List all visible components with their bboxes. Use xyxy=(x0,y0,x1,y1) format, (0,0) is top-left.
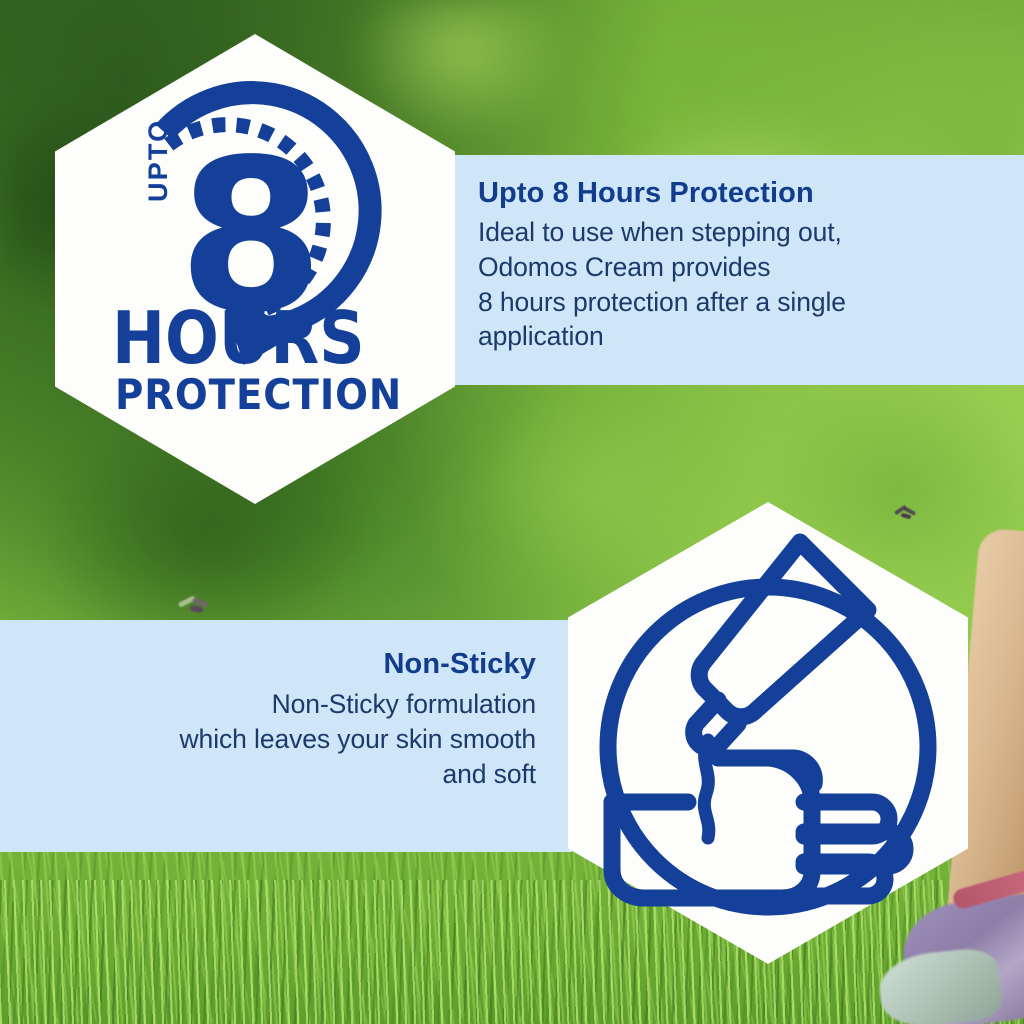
insect-icon xyxy=(178,598,212,620)
infographic-canvas: Upto 8 Hours Protection Ideal to use whe… xyxy=(0,0,1024,1024)
feature-body-line: 8 hours protection after a single xyxy=(478,285,998,320)
feature-panel-upto-8-hours-protection: Upto 8 Hours Protection Ideal to use whe… xyxy=(452,155,1024,385)
feature-body-line: Odomos Cream provides xyxy=(478,250,998,285)
feature-title: Upto 8 Hours Protection xyxy=(478,177,998,210)
feature-panel-non-sticky: Non-Sticky Non-Sticky formulation which … xyxy=(0,620,572,852)
feature-title: Non-Sticky xyxy=(26,648,536,681)
badge-hours-label: HOURS xyxy=(112,302,332,374)
feature-body-line: which leaves your skin smooth xyxy=(26,722,536,757)
feature-body: Ideal to use when stepping out, Odomos C… xyxy=(478,215,998,354)
feature-body-line: and soft xyxy=(26,757,536,792)
8-hours-protection-badge-icon: UPTO 8 HOURS PROTECTION xyxy=(55,34,455,504)
feature-body-line: application xyxy=(478,319,998,354)
feature-body: Non-Sticky formulation which leaves your… xyxy=(26,687,536,791)
feature-body-line: Non-Sticky formulation xyxy=(26,687,536,722)
cream-tube-on-hand-icon xyxy=(568,502,968,964)
feature-body-line: Ideal to use when stepping out, xyxy=(478,215,998,250)
badge-protection-label: PROTECTION xyxy=(115,374,391,416)
